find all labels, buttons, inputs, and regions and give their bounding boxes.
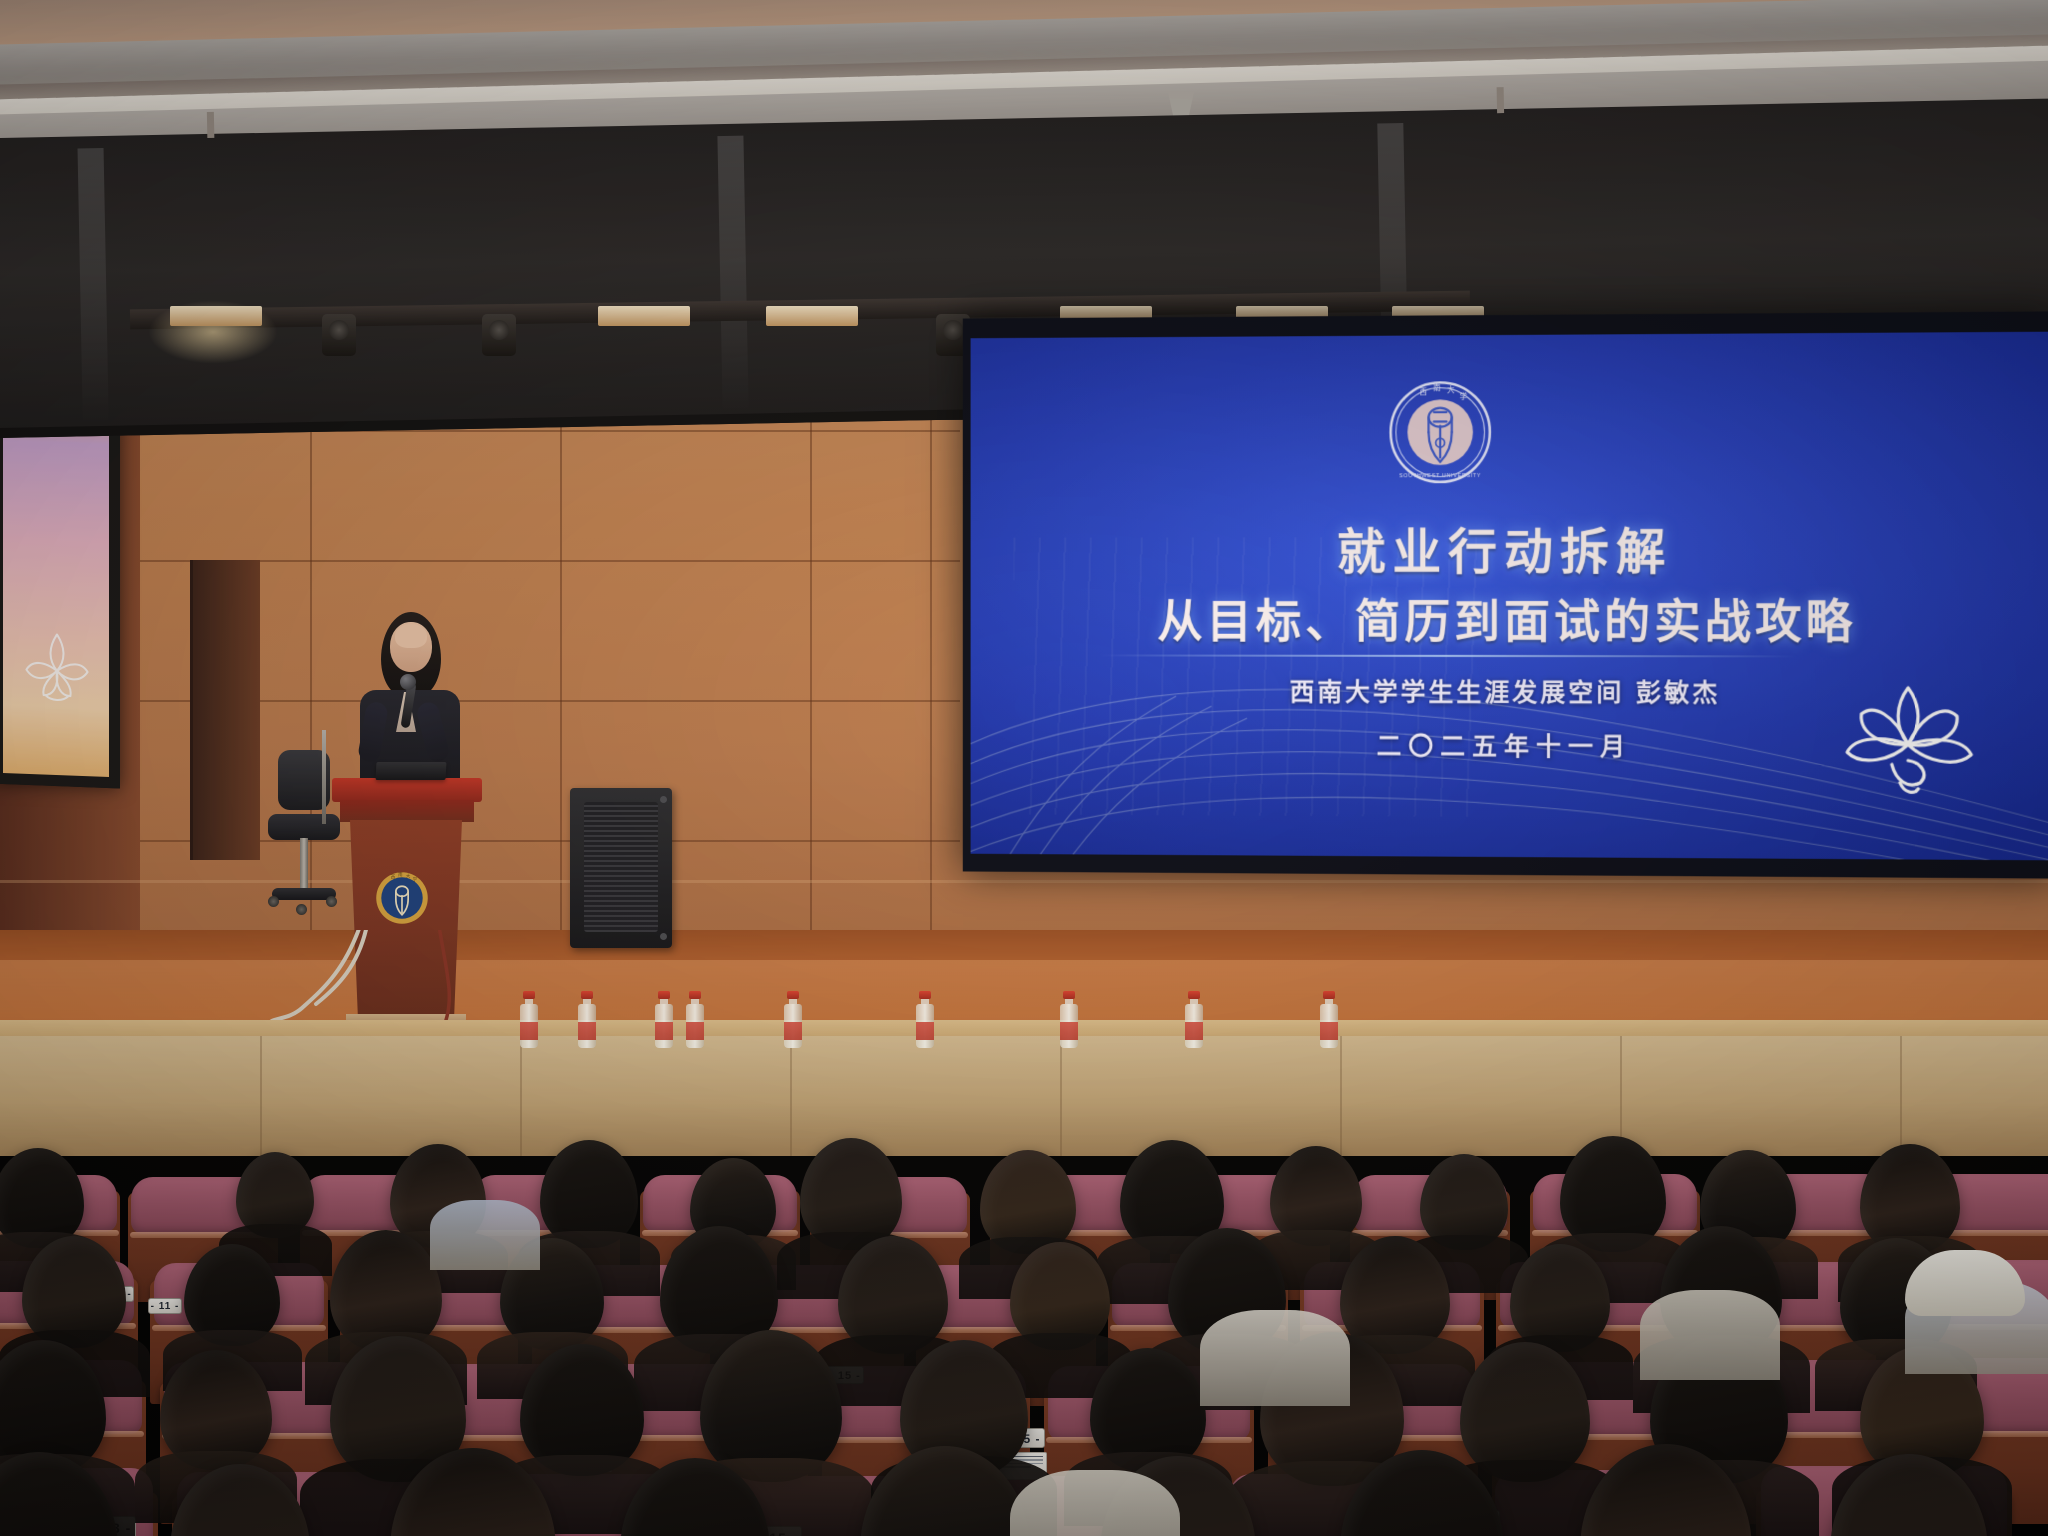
projection-screen-frame: 西南 大学 SOUTHWEST UNIVERSITY 就业行动拆解 从目标、简历… (963, 311, 2048, 878)
spotlight-icon (322, 314, 356, 356)
swu-university-seal-icon: 西南 大学 SOUTHWEST UNIVERSITY (1388, 379, 1494, 485)
svg-text:南: 南 (1433, 383, 1440, 392)
svg-text:南: 南 (398, 871, 403, 878)
audience-member-shoulders (1200, 1310, 1350, 1406)
svg-text:学: 学 (1460, 392, 1467, 401)
svg-text:西: 西 (391, 874, 396, 880)
projection-screen[interactable]: 西南 大学 SOUTHWEST UNIVERSITY 就业行动拆解 从目标、简历… (971, 332, 2048, 861)
svg-text:SOUTHWEST UNIVERSITY: SOUTHWEST UNIVERSITY (1399, 473, 1481, 479)
audience-member-shoulders (1010, 1470, 1180, 1536)
pa-speaker-cabinet (570, 788, 672, 948)
microphone-stand (322, 730, 326, 824)
seat-number-plate: - 11 - (148, 1298, 182, 1314)
svg-text:大: 大 (1447, 385, 1455, 394)
magnolia-lotus-icon (1821, 670, 1994, 808)
podium-laptop[interactable] (376, 762, 447, 780)
audience-member-shoulders (1640, 1290, 1780, 1380)
svg-text:西: 西 (1420, 387, 1427, 396)
wall-seam (140, 840, 960, 842)
audience-seating: - 11 -- 13 -- 11 -- 13 -- 15 -- 17 -- 17… (0, 1040, 2048, 1536)
office-chair[interactable] (268, 750, 340, 920)
spotlight-icon (482, 314, 516, 356)
slide-subtitle: 从目标、简历到面试的实战攻略 (971, 585, 2048, 652)
stage-side-door[interactable] (190, 560, 260, 860)
audience-member-shoulders (430, 1200, 540, 1270)
podium-emblem-icon: 西南 大学 (374, 870, 430, 926)
slide-title: 就业行动拆解 (971, 512, 2048, 584)
wall-seam (140, 560, 960, 562)
lotus-icon (9, 621, 105, 711)
wall-seam (140, 700, 960, 702)
auditorium-scene: 西南 大学 SOUTHWEST UNIVERSITY 就业行动拆解 从目标、简历… (0, 0, 2048, 1536)
